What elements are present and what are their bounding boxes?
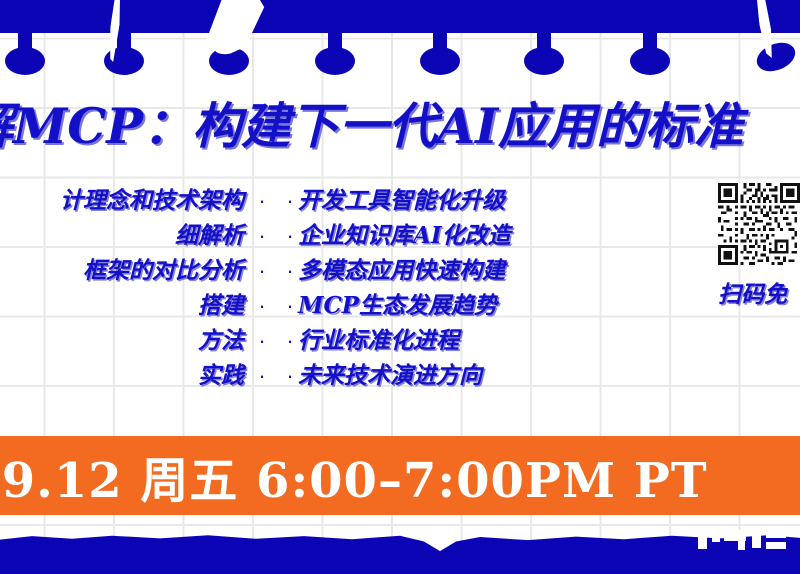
topic-label: 框架的对比分析 bbox=[83, 251, 244, 285]
topic-label: 行业标准化进程 bbox=[298, 321, 459, 355]
date-time-text: .9.12 周五 6:00–7:00PM PT bbox=[0, 441, 708, 511]
qr-block: 扫码免 bbox=[718, 183, 800, 309]
qr-caption: 扫码免 bbox=[718, 275, 800, 309]
topic-label: 方法 bbox=[198, 321, 244, 355]
bullet-dot-icon: · bbox=[282, 295, 298, 317]
list-item: 计理念和技术架构 · bbox=[0, 181, 270, 216]
topic-column-left: 计理念和技术架构 · 细解析 · 框架的对比分析 · 搭建 · 方法 · 实践 … bbox=[0, 181, 270, 391]
bullet-dot-icon: · bbox=[254, 295, 270, 317]
bullet-dot-icon: · bbox=[282, 190, 298, 212]
topic-label: 多模态应用快速构建 bbox=[298, 251, 505, 285]
list-item: · 未来技术演进方向 bbox=[282, 356, 582, 391]
topic-label: 开发工具智能化升级 bbox=[298, 181, 505, 215]
poster-headline: 解MCP：构建下一代AI应用的标准 bbox=[0, 87, 800, 158]
paint-drip bbox=[537, 33, 551, 55]
bullet-dot-icon: · bbox=[254, 330, 270, 352]
paint-drip bbox=[18, 33, 32, 55]
bullet-dot-icon: · bbox=[282, 260, 298, 282]
bullet-dot-icon: · bbox=[254, 190, 270, 212]
paint-drip bbox=[643, 33, 657, 55]
list-item: · 开发工具智能化升级 bbox=[282, 181, 582, 216]
topic-label: 未来技术演进方向 bbox=[298, 356, 482, 390]
list-item: · MCP生态发展趋势 bbox=[282, 286, 582, 321]
bullet-dot-icon: · bbox=[282, 365, 298, 387]
list-item: 方法 · bbox=[0, 321, 270, 356]
list-item: · 行业标准化进程 bbox=[282, 321, 582, 356]
topic-label: 企业知识库AI化改造 bbox=[298, 216, 511, 250]
bullet-dot-icon: · bbox=[254, 225, 270, 247]
topic-label: 搭建 bbox=[198, 286, 244, 320]
bullet-dot-icon: · bbox=[254, 260, 270, 282]
date-time-banner: .9.12 周五 6:00–7:00PM PT bbox=[0, 436, 800, 515]
list-item: · 企业知识库AI化改造 bbox=[282, 216, 582, 251]
bullet-dot-icon: · bbox=[254, 365, 270, 387]
bottom-white-mark-icon bbox=[698, 530, 794, 552]
qr-code-icon[interactable] bbox=[718, 183, 800, 265]
topic-columns: 计理念和技术架构 · 细解析 · 框架的对比分析 · 搭建 · 方法 · 实践 … bbox=[0, 181, 590, 391]
topic-label: MCP生态发展趋势 bbox=[298, 286, 497, 320]
paint-drip bbox=[117, 33, 131, 55]
paint-drip bbox=[433, 33, 447, 55]
topic-column-right: · 开发工具智能化升级 · 企业知识库AI化改造 · 多模态应用快速构建 · M… bbox=[282, 181, 582, 391]
topic-label: 实践 bbox=[198, 356, 244, 390]
topic-label: 计理念和技术架构 bbox=[60, 181, 244, 215]
bottom-blue-banner bbox=[0, 530, 800, 574]
bullet-dot-icon: · bbox=[282, 330, 298, 352]
list-item: 实践 · bbox=[0, 356, 270, 391]
bullet-dot-icon: · bbox=[282, 225, 298, 247]
list-item: · 多模态应用快速构建 bbox=[282, 251, 582, 286]
paint-drip bbox=[328, 33, 342, 55]
list-item: 细解析 · bbox=[0, 216, 270, 251]
topic-label: 细解析 bbox=[175, 216, 244, 250]
list-item: 搭建 · bbox=[0, 286, 270, 321]
list-item: 框架的对比分析 · bbox=[0, 251, 270, 286]
poster-canvas: 解MCP：构建下一代AI应用的标准 计理念和技术架构 · 细解析 · 框架的对比… bbox=[0, 0, 800, 574]
top-blue-banner bbox=[0, 0, 800, 33]
